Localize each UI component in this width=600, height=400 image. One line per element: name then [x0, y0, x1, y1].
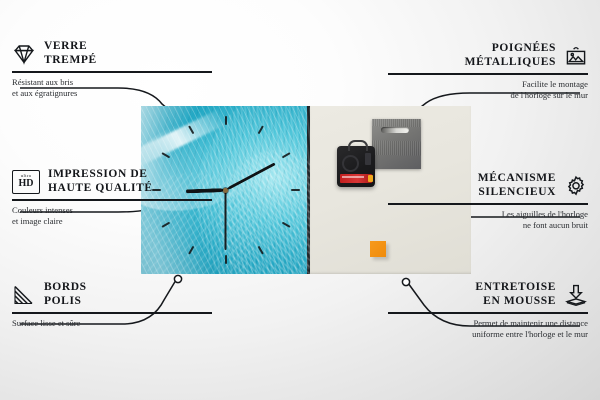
foam-spacer-arrow-icon	[564, 283, 588, 307]
diamond-icon	[12, 42, 36, 66]
hour-marker	[225, 116, 227, 125]
hour-marker	[291, 189, 300, 191]
callout-title: ENTRETOISE EN MOUSSE	[475, 281, 556, 308]
callout-bords-polis: BORDS POLIS Surface lisse et sûre	[12, 281, 212, 329]
hour-marker	[281, 152, 290, 158]
callout-rule	[388, 312, 588, 314]
ultra-hd-icon: ultra HD	[12, 170, 40, 194]
clock-center-cap	[223, 188, 228, 193]
callout-entretoise-en-mousse: ENTRETOISE EN MOUSSE Permet de maintenir…	[388, 281, 588, 340]
callout-subtitle: Les aiguilles de l'horloge ne font aucun…	[388, 209, 588, 232]
hour-marker	[188, 246, 194, 255]
hour-marker	[257, 246, 263, 255]
callout-subtitle: Couleurs intenses et image claire	[12, 205, 212, 228]
keyhole-slot	[381, 127, 409, 133]
callout-rule	[12, 199, 212, 201]
battery	[340, 174, 372, 183]
mechanism-dial	[342, 155, 359, 172]
foam-spacer	[370, 241, 386, 257]
mechanism-button	[365, 153, 371, 165]
hour-marker	[257, 125, 263, 134]
hour-marker	[161, 152, 170, 158]
callout-rule	[12, 312, 212, 314]
callout-impression-haute-qualite: ultra HD IMPRESSION DE HAUTE QUALITÉ Cou…	[12, 168, 212, 227]
callout-subtitle: Permet de maintenir une distance uniform…	[388, 318, 588, 341]
callout-mecanisme-silencieux: MÉCANISME SILENCIEUX Les aiguilles de l'…	[388, 172, 588, 231]
hour-marker	[281, 222, 290, 228]
battery-label	[342, 176, 364, 178]
battery-terminal	[368, 175, 373, 182]
callout-subtitle: Facilite le montage de l'horloge sur le …	[388, 79, 588, 102]
second-hand	[225, 190, 227, 250]
callout-title: POIGNÉES MÉTALLIQUES	[465, 42, 556, 69]
polished-edge-icon	[12, 283, 36, 307]
callout-poignees-metalliques: POIGNÉES MÉTALLIQUES Facilite le montage…	[388, 42, 588, 101]
callout-title: VERRE TREMPÉ	[44, 40, 97, 67]
callout-title: IMPRESSION DE HAUTE QUALITÉ	[48, 168, 153, 195]
callout-subtitle: Résistant aux bris et aux égratignures	[12, 77, 212, 100]
callout-rule	[388, 73, 588, 75]
callout-verre-trempe: VERRE TREMPÉ Résistant aux bris et aux é…	[12, 40, 212, 99]
picture-frame-hanger-icon	[564, 44, 588, 68]
metallic-hanger-plate	[372, 119, 421, 169]
mechanism-hanger-loop	[348, 140, 368, 151]
hour-marker	[188, 125, 194, 134]
infographic-stage: VERRE TREMPÉ Résistant aux bris et aux é…	[0, 0, 600, 400]
hour-marker	[225, 255, 227, 264]
callout-rule	[388, 203, 588, 205]
callout-title: MÉCANISME SILENCIEUX	[478, 172, 556, 199]
gear-icon	[564, 174, 588, 198]
callout-title: BORDS POLIS	[44, 281, 87, 308]
silent-clock-mechanism	[337, 146, 375, 187]
callout-rule	[12, 71, 212, 73]
ultra-hd-icon-main: HD	[19, 179, 34, 189]
callout-subtitle: Surface lisse et sûre	[12, 318, 212, 329]
